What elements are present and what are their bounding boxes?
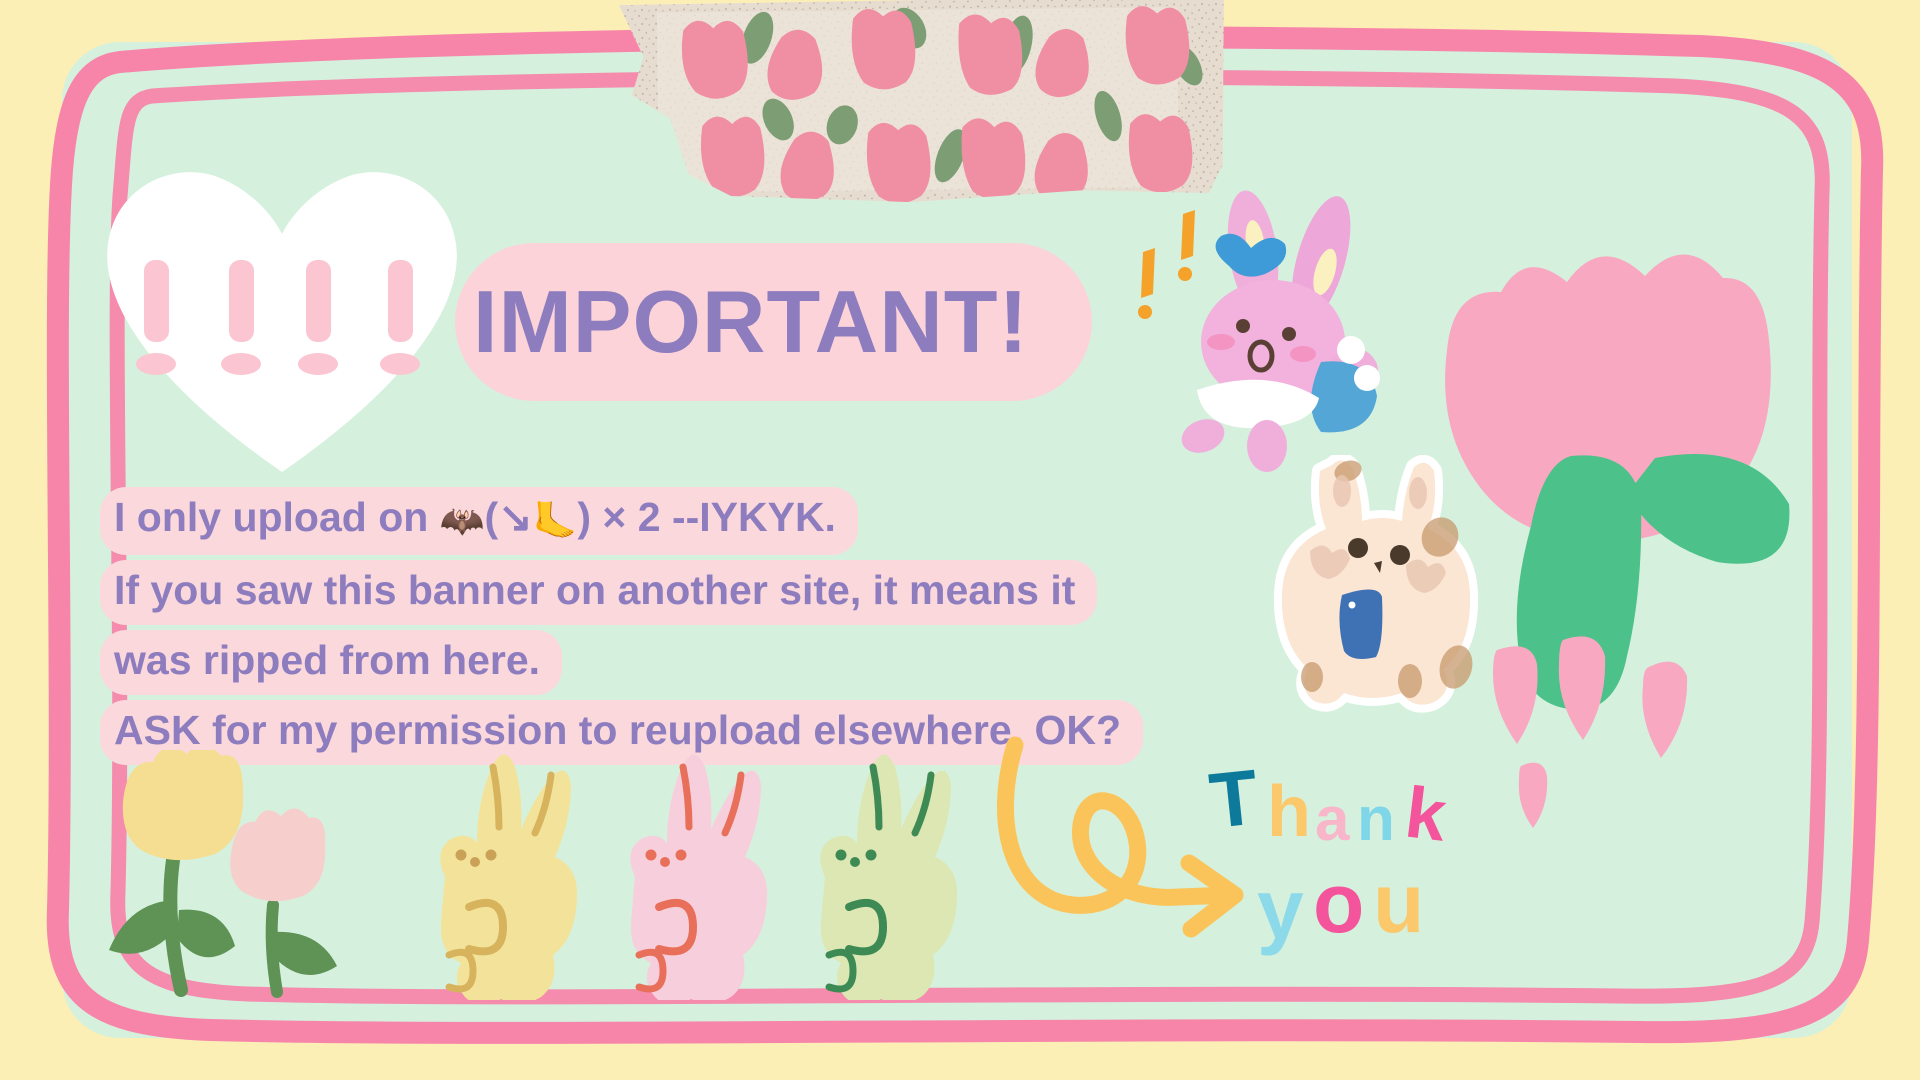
thankyou-letter-a: a xyxy=(1315,785,1350,854)
arrow-down-right-icon: ↘ xyxy=(498,494,532,540)
flying-pink-bunny xyxy=(1125,190,1415,485)
thankyou-letter-T: T xyxy=(1206,760,1263,845)
body-line-3: was ripped from here. xyxy=(100,630,562,695)
line1-prefix: I only upload on xyxy=(114,494,440,540)
falling-petals xyxy=(1493,636,1687,828)
thankyou-letter-o: o xyxy=(1313,856,1364,950)
page-title: IMPORTANT! xyxy=(473,243,1093,401)
big-pink-tulip xyxy=(1425,250,1795,955)
tulips-bottom-left xyxy=(95,750,360,1000)
bat-icon: 🦇 xyxy=(440,500,485,541)
green-gummy-bunny xyxy=(820,754,957,1000)
phone-icon xyxy=(1339,589,1382,659)
thankyou-letter-n: n xyxy=(1357,785,1395,854)
heart-with-exclamations xyxy=(92,152,472,482)
gummy-bunnies-row xyxy=(405,745,960,1000)
thankyou-letter-h: h xyxy=(1267,772,1311,852)
foot-icon: 🦶 xyxy=(533,500,578,541)
washi-tape-tulip-pattern xyxy=(609,0,1236,214)
thankyou-letter-y: y xyxy=(1257,862,1304,956)
line1-suffix: × 2 --IYKYK. xyxy=(591,494,836,540)
exclamation-marks-orange xyxy=(1138,210,1195,319)
thankyou-letter-u: u xyxy=(1373,856,1424,950)
yellow-gummy-bunny xyxy=(440,754,577,1000)
banner-canvas: IMPORTANT! I only upload on 🦇(↘🦶) × 2 --… xyxy=(0,0,1920,1080)
pink-gummy-bunny xyxy=(630,754,767,1000)
line1-open-paren: ( xyxy=(485,494,499,540)
body-line-2: If you saw this banner on another site, … xyxy=(100,560,1097,625)
body-line-1: I only upload on 🦇(↘🦶) × 2 --IYKYK. xyxy=(100,487,858,555)
line1-close-paren: ) xyxy=(577,494,591,540)
tulip-leaf xyxy=(1627,454,1789,564)
